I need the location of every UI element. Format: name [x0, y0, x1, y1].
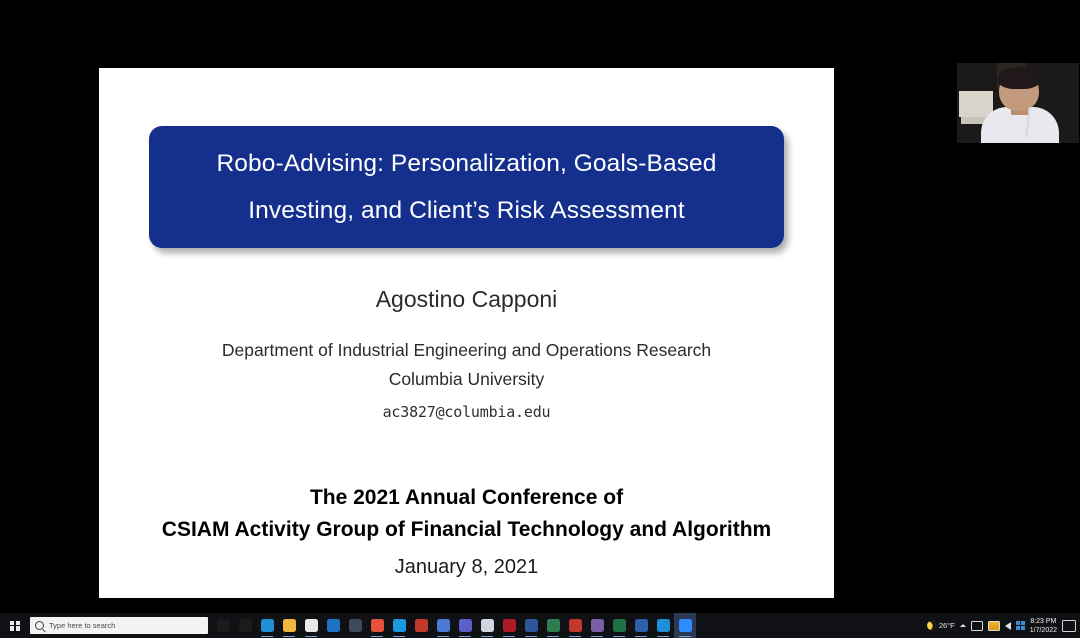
weather-indicator[interactable]: 26°F	[927, 621, 955, 630]
search-placeholder: Type here to search	[49, 621, 115, 630]
excel-icon-glyph	[613, 619, 626, 632]
settings-icon-glyph	[349, 619, 362, 632]
mail-icon-glyph	[327, 619, 340, 632]
word-icon[interactable]	[520, 613, 542, 638]
windows-logo-icon	[10, 621, 20, 631]
cortana-icon-glyph	[217, 619, 230, 632]
chrome-icon-glyph	[371, 619, 384, 632]
acrobat-icon-glyph	[503, 619, 516, 632]
clock-date: 1/7/2022	[1030, 626, 1057, 635]
task-view-icon-glyph	[239, 619, 252, 632]
participant-video-thumbnail[interactable]	[957, 63, 1079, 143]
word-icon-glyph	[525, 619, 538, 632]
onedrive-icon-glyph	[437, 619, 450, 632]
windows-security-icon[interactable]	[1016, 621, 1025, 630]
notepad-icon[interactable]	[476, 613, 498, 638]
file-explorer-icon[interactable]	[278, 613, 300, 638]
app-icon-green[interactable]	[542, 613, 564, 638]
file-explorer-icon-glyph	[283, 619, 296, 632]
affiliation-line-2: Columbia University	[99, 365, 834, 394]
microsoft-store-icon[interactable]	[300, 613, 322, 638]
clock[interactable]: 8:23 PM 1/7/2022	[1030, 617, 1057, 635]
search-input[interactable]: Type here to search	[30, 617, 208, 634]
moon-icon	[925, 620, 937, 632]
notifications-icon[interactable]	[1062, 620, 1076, 632]
author-name: Agostino Capponi	[99, 286, 834, 313]
powerpoint-icon-glyph	[569, 619, 582, 632]
notepad-icon-glyph	[481, 619, 494, 632]
microsoft-store-icon-glyph	[305, 619, 318, 632]
affiliation-line-1: Department of Industrial Engineering and…	[99, 336, 834, 365]
conference-date: January 8, 2021	[99, 556, 834, 579]
search-icon	[35, 621, 44, 630]
onedrive-tray-icon[interactable]	[988, 621, 1000, 631]
chrome-icon[interactable]	[366, 613, 388, 638]
video-person-hair	[998, 67, 1040, 89]
start-button[interactable]	[0, 613, 30, 638]
volume-icon[interactable]	[1005, 622, 1011, 630]
video-shelf	[959, 91, 993, 117]
teams-icon[interactable]	[454, 613, 476, 638]
clock-time: 8:23 PM	[1030, 617, 1057, 626]
teams-icon-glyph	[459, 619, 472, 632]
network-icon[interactable]	[971, 621, 983, 631]
skype-icon[interactable]	[388, 613, 410, 638]
zoom-icon-glyph	[679, 619, 692, 632]
slide-title-box: Robo-Advising: Personalization, Goals-Ba…	[149, 126, 784, 248]
acrobat-icon[interactable]	[498, 613, 520, 638]
slide-title-line-2: Investing, and Client’s Risk Assessment	[248, 187, 684, 234]
photos-icon-glyph	[415, 619, 428, 632]
system-tray[interactable]: 26°F 8:23 PM 1/7/2022	[927, 613, 1080, 638]
windows-taskbar[interactable]: Type here to search 26°F 8:23 PM 1/7/202…	[0, 613, 1080, 638]
conference-info: The 2021 Annual Conference of CSIAM Acti…	[99, 482, 834, 579]
chevron-up-icon[interactable]	[960, 624, 966, 627]
author-affiliation: Department of Industrial Engineering and…	[99, 336, 834, 427]
zoom-icon[interactable]	[674, 613, 696, 638]
settings-icon[interactable]	[344, 613, 366, 638]
temperature-label: 26°F	[939, 621, 955, 630]
onedrive-icon[interactable]	[432, 613, 454, 638]
screen: Robo-Advising: Personalization, Goals-Ba…	[0, 0, 1080, 638]
app-icon-green-glyph	[547, 619, 560, 632]
edge-icon[interactable]	[256, 613, 278, 638]
app-icon-blue-glyph	[635, 619, 648, 632]
author-email: ac3827@columbia.edu	[99, 398, 834, 427]
messenger-icon-glyph	[657, 619, 670, 632]
presentation-slide[interactable]: Robo-Advising: Personalization, Goals-Ba…	[99, 68, 834, 598]
conference-line-2: CSIAM Activity Group of Financial Techno…	[99, 514, 834, 546]
skype-icon-glyph	[393, 619, 406, 632]
photos-icon[interactable]	[410, 613, 432, 638]
app-icon-violet-glyph	[591, 619, 604, 632]
slide-title-line-1: Robo-Advising: Personalization, Goals-Ba…	[216, 140, 716, 187]
powerpoint-icon[interactable]	[564, 613, 586, 638]
cortana-icon[interactable]	[212, 613, 234, 638]
messenger-icon[interactable]	[652, 613, 674, 638]
edge-icon-glyph	[261, 619, 274, 632]
task-view-icon[interactable]	[234, 613, 256, 638]
conference-line-1: The 2021 Annual Conference of	[99, 482, 834, 514]
app-icon-violet[interactable]	[586, 613, 608, 638]
mail-icon[interactable]	[322, 613, 344, 638]
taskbar-app-icons[interactable]	[212, 613, 696, 638]
excel-icon[interactable]	[608, 613, 630, 638]
app-icon-blue[interactable]	[630, 613, 652, 638]
